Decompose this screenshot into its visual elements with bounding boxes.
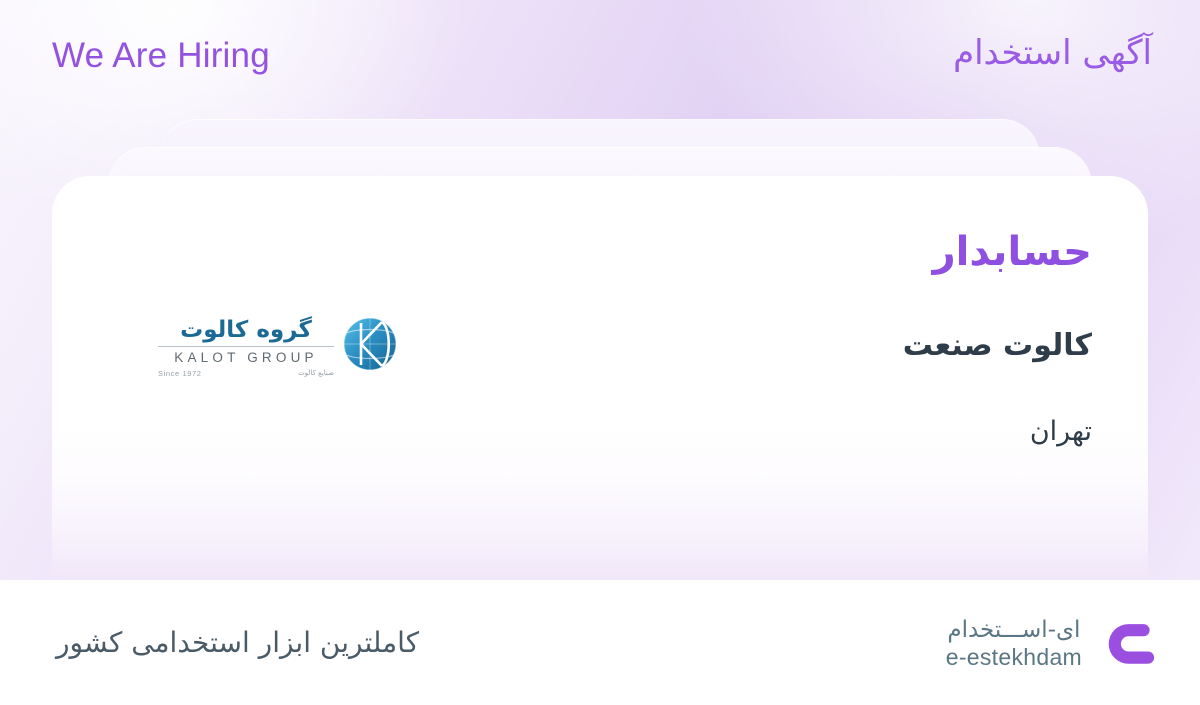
- e-estekhdam-logo[interactable]: ای-اســـتخدام e-estekhdam: [946, 612, 1156, 676]
- e-estekhdam-name-fa: ای-اســـتخدام: [947, 617, 1080, 643]
- job-card[interactable]: حسابدار کالوت صنعت تهران: [52, 176, 1148, 580]
- e-estekhdam-name-en: e-estekhdam: [946, 644, 1082, 670]
- job-details: حسابدار کالوت صنعت تهران: [903, 228, 1092, 448]
- company-name: کالوت صنعت: [903, 328, 1092, 364]
- company-logo-name-en: KALOT GROUP: [158, 346, 334, 365]
- company-logo-sub-fa: صنایع کالوت: [298, 369, 334, 377]
- job-title: حسابدار: [903, 228, 1092, 276]
- e-estekhdam-e-logo-icon: [1098, 615, 1156, 673]
- company-logo-subline: Since 1972 صنایع کالوت: [158, 369, 334, 381]
- poster-stage: We Are Hiring آگهی استخدام حسابدار کالوت…: [0, 0, 1200, 580]
- poster-header: We Are Hiring آگهی استخدام: [0, 36, 1200, 96]
- job-location: تهران: [903, 416, 1092, 448]
- job-ad-label-fa: آگهی استخدام: [953, 33, 1152, 73]
- we-are-hiring-label: We Are Hiring: [52, 36, 270, 76]
- globe-k-emblem-icon: [342, 316, 398, 372]
- company-logo-name-fa: گروه کالوت: [158, 318, 334, 343]
- job-ad-poster: We Are Hiring آگهی استخدام حسابدار کالوت…: [0, 0, 1200, 705]
- poster-footer: کاملترین ابزار استخدامی کشور ای-اســـتخد…: [0, 580, 1200, 705]
- company-logo-text: گروه کالوت KALOT GROUP Since 1972 صنایع …: [158, 318, 334, 381]
- e-estekhdam-wordmark: ای-اســـتخدام e-estekhdam: [946, 617, 1082, 671]
- company-logo: گروه کالوت KALOT GROUP Since 1972 صنایع …: [158, 316, 398, 402]
- company-logo-since: Since 1972: [158, 369, 202, 378]
